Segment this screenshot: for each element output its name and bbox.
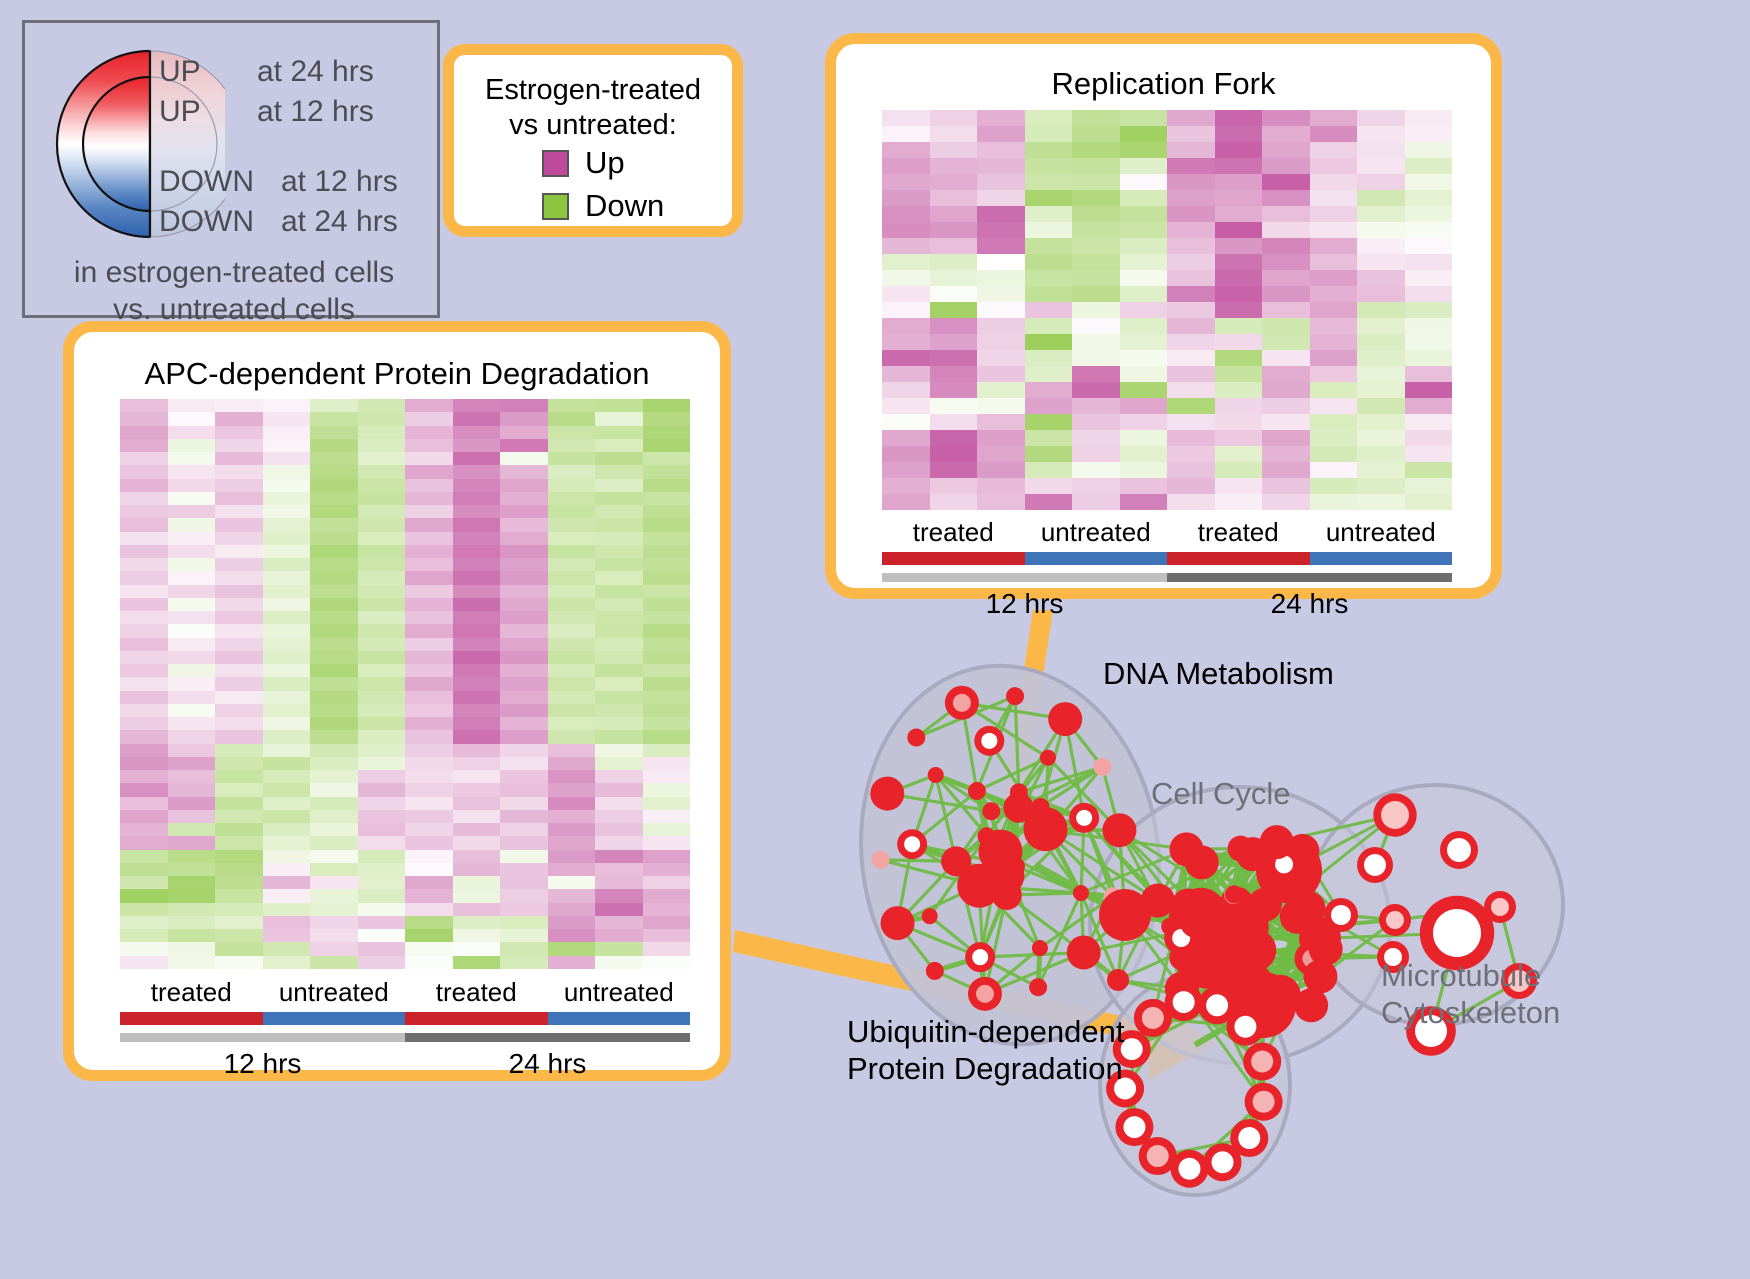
heatmap-cell <box>930 254 978 270</box>
heatmap-cell <box>1405 238 1453 254</box>
heatmap-cell <box>215 823 263 836</box>
heatmap-cell <box>1072 350 1120 366</box>
heatmap-cell <box>500 823 548 836</box>
heatmap-cell <box>1120 350 1168 366</box>
heatmap-cell <box>263 545 311 558</box>
heatmap-cell <box>120 664 168 677</box>
heatmap-cell <box>1357 126 1405 142</box>
heatmap-cell <box>215 439 263 452</box>
heatmap-cell <box>168 452 216 465</box>
heatmap-cell <box>168 426 216 439</box>
heatmap-cell <box>310 452 358 465</box>
heatmap-cell <box>1357 110 1405 126</box>
heatmap-cell <box>643 399 691 412</box>
heatmap-cell <box>453 810 501 823</box>
heatmap-cell <box>263 651 311 664</box>
heatmap-cell <box>215 558 263 571</box>
apc-group-label-2: treated <box>405 977 548 1008</box>
heatmap-cell <box>1405 350 1453 366</box>
heatmap-cell <box>405 810 453 823</box>
heatmap-cell <box>1405 302 1453 318</box>
heatmap-cell <box>453 850 501 863</box>
heatmap-cell <box>595 558 643 571</box>
heatmap-cell <box>1310 318 1358 334</box>
heatmap-cell <box>930 318 978 334</box>
heatmap-cell <box>168 598 216 611</box>
heatmap-cell <box>1357 494 1405 510</box>
heatmap-cell <box>595 704 643 717</box>
heatmap-cell <box>1167 142 1215 158</box>
heatmap-cell <box>405 558 453 571</box>
heatmap-cell <box>643 532 691 545</box>
heatmap-cell <box>1215 382 1263 398</box>
heatmap-cell <box>358 836 406 849</box>
heatmap-cell <box>310 717 358 730</box>
heatmap-cell <box>930 206 978 222</box>
heatmap-cell <box>1167 318 1215 334</box>
heatmap-cell <box>1215 446 1263 462</box>
heatmap-cell <box>358 876 406 889</box>
heatmap-cell <box>595 518 643 531</box>
heatmap-cell <box>1357 222 1405 238</box>
heatmap-cell <box>882 254 930 270</box>
apc-timebar-24hrs <box>405 1033 690 1042</box>
heatmap-cell <box>310 889 358 902</box>
heatmap-cell <box>358 730 406 743</box>
heatmap-cell <box>1357 382 1405 398</box>
heatmap-cell <box>405 942 453 955</box>
heatmap-cell <box>1262 142 1310 158</box>
heatmap-cell <box>120 823 168 836</box>
heatmap-cell <box>1167 430 1215 446</box>
heatmap-cell <box>405 624 453 637</box>
heatmap-cell <box>453 611 501 624</box>
heatmap-cell <box>453 624 501 637</box>
rf-bar-treated-12 <box>882 552 1025 565</box>
heatmap-cell <box>1215 430 1263 446</box>
heatmap-cell <box>310 638 358 651</box>
heatmap-cell <box>120 810 168 823</box>
heatmap-cell <box>263 598 311 611</box>
heatmap-cell <box>310 664 358 677</box>
heatmap-cell <box>358 492 406 505</box>
heatmap-cell <box>405 677 453 690</box>
heatmap-cell <box>358 717 406 730</box>
heatmap-cell <box>1262 430 1310 446</box>
heatmap-cell <box>500 757 548 770</box>
heatmap-cell <box>263 412 311 425</box>
heatmap-cell <box>1072 462 1120 478</box>
heatmap-cell <box>500 863 548 876</box>
heatmap-cell <box>168 571 216 584</box>
heatmap-cell <box>310 426 358 439</box>
network-graph <box>795 615 1750 1279</box>
heatmap-cell <box>1025 318 1073 334</box>
heatmap-cell <box>215 598 263 611</box>
heatmap-cell <box>453 677 501 690</box>
heatmap-cell <box>1120 142 1168 158</box>
heatmap-cell <box>358 850 406 863</box>
heatmap-cell <box>1072 302 1120 318</box>
heatmap-cell <box>595 611 643 624</box>
heatmap-cell <box>1215 334 1263 350</box>
heatmap-cell <box>405 664 453 677</box>
heatmap-cell <box>120 850 168 863</box>
heatmap-cell <box>263 704 311 717</box>
heatmap-cell <box>120 836 168 849</box>
heatmap-cell <box>310 730 358 743</box>
heatmap-cell <box>310 942 358 955</box>
heatmap-cell <box>453 823 501 836</box>
legend-title-line2: vs untreated: <box>454 108 732 143</box>
heatmap-cell <box>120 585 168 598</box>
heatmap-cell <box>1167 462 1215 478</box>
heatmap-cell <box>643 730 691 743</box>
heatmap-cell <box>1215 318 1263 334</box>
heatmap-cell <box>215 624 263 637</box>
heatmap-cell <box>453 518 501 531</box>
heatmap-cell <box>1310 110 1358 126</box>
heatmap-cell <box>1072 254 1120 270</box>
heatmap-cell <box>882 222 930 238</box>
heatmap-cell <box>215 889 263 902</box>
apc-bar-untreated-24 <box>548 1012 691 1025</box>
ubiquitin-line2: Protein Degradation <box>847 1050 1125 1087</box>
heatmap-cell <box>595 916 643 929</box>
heatmap-cell <box>263 810 311 823</box>
heatmap-cell <box>1167 254 1215 270</box>
key-up-12-label: UP <box>159 95 201 129</box>
heatmap-cell <box>1072 334 1120 350</box>
heatmap-cell <box>358 598 406 611</box>
heatmap-cell <box>643 916 691 929</box>
heatmap-cell <box>1072 174 1120 190</box>
heatmap-cell <box>1310 254 1358 270</box>
key-down-12-time: at 12 hrs <box>281 165 398 199</box>
heatmap-cell <box>1215 174 1263 190</box>
heatmap-cell <box>263 836 311 849</box>
heatmap-cell <box>358 744 406 757</box>
apc-heatmap <box>120 399 690 969</box>
heatmap-cell <box>215 412 263 425</box>
heatmap-cell <box>977 430 1025 446</box>
heatmap-cell <box>168 505 216 518</box>
heatmap-cell <box>1167 382 1215 398</box>
heatmap-cell <box>310 903 358 916</box>
heatmap-cell <box>405 412 453 425</box>
key-down-24-time: at 24 hrs <box>281 205 398 239</box>
heatmap-cell <box>215 929 263 942</box>
heatmap-cell <box>500 545 548 558</box>
heatmap-cell <box>500 611 548 624</box>
heatmap-cell <box>977 270 1025 286</box>
heatmap-cell <box>643 465 691 478</box>
heatmap-cell <box>358 903 406 916</box>
legend-title: Estrogen-treated vs untreated: <box>454 73 732 144</box>
heatmap-cell <box>453 836 501 849</box>
heatmap-cell <box>595 426 643 439</box>
heatmap-cell <box>215 876 263 889</box>
heatmap-cell <box>1167 414 1215 430</box>
up-swatch <box>542 150 569 177</box>
apc-bar-treated-24 <box>405 1012 548 1025</box>
heatmap-cell <box>215 903 263 916</box>
heatmap-cell <box>595 810 643 823</box>
heatmap-cell <box>500 836 548 849</box>
heatmap-cell <box>263 730 311 743</box>
heatmap-cell <box>1215 366 1263 382</box>
heatmap-cell <box>453 585 501 598</box>
heatmap-cell <box>120 783 168 796</box>
heatmap-cell <box>1310 366 1358 382</box>
heatmap-cell <box>120 611 168 624</box>
replication-fork-time-bar <box>882 573 1452 582</box>
heatmap-cell <box>1310 302 1358 318</box>
heatmap-cell <box>168 730 216 743</box>
heatmap-cell <box>405 704 453 717</box>
heatmap-cell <box>643 810 691 823</box>
heatmap-cell <box>1025 414 1073 430</box>
apc-time-label-24: 24 hrs <box>405 1048 690 1080</box>
heatmap-cell <box>643 942 691 955</box>
heatmap-cell <box>1072 366 1120 382</box>
heatmap-cell <box>215 850 263 863</box>
heatmap-cell <box>263 797 311 810</box>
heatmap-cell <box>548 757 596 770</box>
heatmap-cell <box>548 452 596 465</box>
heatmap-cell <box>358 439 406 452</box>
heatmap-cell <box>1025 126 1073 142</box>
heatmap-cell <box>1310 190 1358 206</box>
heatmap-cell <box>930 286 978 302</box>
heatmap-cell <box>500 677 548 690</box>
heatmap-cell <box>1072 190 1120 206</box>
heatmap-cell <box>1262 382 1310 398</box>
heatmap-cell <box>358 479 406 492</box>
heatmap-cell <box>1262 238 1310 254</box>
heatmap-cell <box>977 110 1025 126</box>
heatmap-cell <box>263 492 311 505</box>
heatmap-cell <box>120 916 168 929</box>
heatmap-cell <box>1120 302 1168 318</box>
heatmap-cell <box>882 190 930 206</box>
heatmap-cell <box>1262 366 1310 382</box>
heatmap-cell <box>930 238 978 254</box>
heatmap-cell <box>215 797 263 810</box>
heatmap-cell <box>1262 126 1310 142</box>
heatmap-cell <box>215 571 263 584</box>
heatmap-cell <box>405 545 453 558</box>
heatmap-cell <box>263 426 311 439</box>
heatmap-cell <box>310 399 358 412</box>
heatmap-cell <box>500 571 548 584</box>
color-key-box: UP at 24 hrs UP at 12 hrs DOWN at 12 hrs… <box>22 20 440 318</box>
heatmap-cell <box>977 334 1025 350</box>
heatmap-cell <box>643 889 691 902</box>
heatmap-cell <box>1120 494 1168 510</box>
heatmap-cell <box>453 691 501 704</box>
heatmap-cell <box>595 889 643 902</box>
heatmap-cell <box>882 414 930 430</box>
heatmap-cell <box>1025 174 1073 190</box>
heatmap-cell <box>358 691 406 704</box>
heatmap-cell <box>500 783 548 796</box>
heatmap-cell <box>405 452 453 465</box>
heatmap-cell <box>1357 318 1405 334</box>
heatmap-cell <box>263 823 311 836</box>
legend-item-down-label: Down <box>585 188 664 224</box>
heatmap-cell <box>405 889 453 902</box>
heatmap-cell <box>548 624 596 637</box>
replication-fork-title: Replication Fork <box>836 66 1491 102</box>
heatmap-cell <box>595 412 643 425</box>
heatmap-cell <box>500 876 548 889</box>
heatmap-cell <box>643 691 691 704</box>
heatmap-cell <box>358 677 406 690</box>
heatmap-cell <box>405 651 453 664</box>
heatmap-cell <box>358 704 406 717</box>
heatmap-cell <box>882 398 930 414</box>
heatmap-cell <box>120 452 168 465</box>
heatmap-cell <box>310 465 358 478</box>
heatmap-cell <box>548 863 596 876</box>
heatmap-cell <box>168 942 216 955</box>
heatmap-cell <box>500 903 548 916</box>
heatmap-cell <box>358 916 406 929</box>
cluster-label-microtubule-cytoskeleton: Microtubule Cytoskeleton <box>1381 957 1560 1031</box>
key-down-24-label: DOWN <box>159 205 254 239</box>
heatmap-cell <box>168 783 216 796</box>
heatmap-cell <box>1215 302 1263 318</box>
heatmap-cell <box>500 704 548 717</box>
heatmap-cell <box>453 664 501 677</box>
heatmap-cell <box>263 889 311 902</box>
heatmap-cell <box>930 382 978 398</box>
heatmap-cell <box>1120 190 1168 206</box>
heatmap-cell <box>930 174 978 190</box>
heatmap-cell <box>215 585 263 598</box>
replication-fork-heatmap <box>882 110 1452 510</box>
heatmap-cell <box>120 757 168 770</box>
heatmap-cell <box>500 850 548 863</box>
heatmap-cell <box>930 366 978 382</box>
heatmap-cell <box>1072 110 1120 126</box>
heatmap-cell <box>168 677 216 690</box>
heatmap-cell <box>453 532 501 545</box>
rf-bar-untreated-12 <box>1025 552 1168 565</box>
heatmap-cell <box>358 571 406 584</box>
heatmap-cell <box>643 717 691 730</box>
heatmap-cell <box>1120 222 1168 238</box>
heatmap-cell <box>1072 142 1120 158</box>
heatmap-cell <box>310 744 358 757</box>
heatmap-cell <box>263 850 311 863</box>
heatmap-cell <box>882 158 930 174</box>
heatmap-cell <box>882 270 930 286</box>
heatmap-cell <box>120 889 168 902</box>
heatmap-cell <box>215 452 263 465</box>
heatmap-cell <box>120 399 168 412</box>
heatmap-cell <box>548 929 596 942</box>
heatmap-cell <box>310 797 358 810</box>
heatmap-cell <box>358 412 406 425</box>
heatmap-cell <box>643 664 691 677</box>
heatmap-cell <box>1405 222 1453 238</box>
heatmap-cell <box>1167 366 1215 382</box>
heatmap-cell <box>1405 382 1453 398</box>
heatmap-cell <box>1405 366 1453 382</box>
heatmap-cell <box>595 598 643 611</box>
heatmap-cell <box>595 783 643 796</box>
heatmap-cell <box>1120 462 1168 478</box>
heatmap-cell <box>168 717 216 730</box>
heatmap-cell <box>1405 254 1453 270</box>
heatmap-cell <box>453 717 501 730</box>
heatmap-cell <box>500 691 548 704</box>
heatmap-cell <box>1310 430 1358 446</box>
heatmap-cell <box>643 770 691 783</box>
heatmap-cell <box>453 452 501 465</box>
heatmap-cell <box>263 571 311 584</box>
heatmap-cell <box>120 691 168 704</box>
heatmap-cell <box>643 797 691 810</box>
heatmap-cell <box>310 770 358 783</box>
heatmap-cell <box>548 744 596 757</box>
heatmap-cell <box>405 823 453 836</box>
heatmap-cell <box>1025 190 1073 206</box>
heatmap-cell <box>1405 206 1453 222</box>
apc-timebar-12hrs <box>120 1033 405 1042</box>
heatmap-cell <box>1120 110 1168 126</box>
heatmap-cell <box>215 677 263 690</box>
heatmap-cell <box>405 730 453 743</box>
heatmap-cell <box>310 651 358 664</box>
heatmap-cell <box>1310 494 1358 510</box>
apc-time-bar <box>120 1033 690 1042</box>
heatmap-cell <box>1167 398 1215 414</box>
heatmap-cell <box>500 492 548 505</box>
heatmap-cell <box>453 439 501 452</box>
heatmap-cell <box>1167 206 1215 222</box>
heatmap-cell <box>1357 254 1405 270</box>
heatmap-cell <box>263 942 311 955</box>
heatmap-cell <box>1405 318 1453 334</box>
rf-group-label-2: treated <box>1167 517 1310 548</box>
heatmap-cell <box>120 744 168 757</box>
heatmap-cell <box>453 704 501 717</box>
heatmap-cell <box>882 446 930 462</box>
heatmap-cell <box>453 426 501 439</box>
heatmap-cell <box>977 222 1025 238</box>
heatmap-cell <box>930 190 978 206</box>
heatmap-cell <box>1120 174 1168 190</box>
heatmap-cell <box>500 558 548 571</box>
heatmap-cell <box>500 797 548 810</box>
heatmap-cell <box>120 876 168 889</box>
heatmap-cell <box>882 494 930 510</box>
heatmap-cell <box>453 598 501 611</box>
heatmap-cell <box>168 664 216 677</box>
heatmap-cell <box>1120 254 1168 270</box>
heatmap-cell <box>215 730 263 743</box>
heatmap-cell <box>595 730 643 743</box>
heatmap-cell <box>500 744 548 757</box>
heatmap-cell <box>263 717 311 730</box>
heatmap-cell <box>310 479 358 492</box>
heatmap-cell <box>977 318 1025 334</box>
heatmap-cell <box>643 823 691 836</box>
heatmap-cell <box>500 439 548 452</box>
